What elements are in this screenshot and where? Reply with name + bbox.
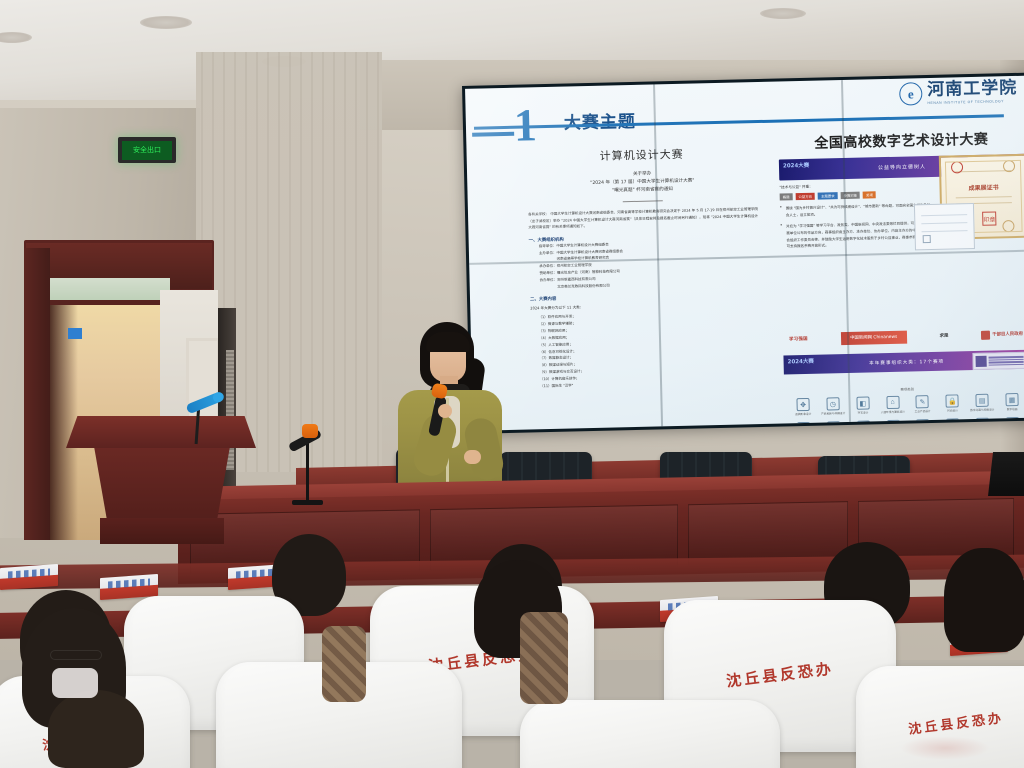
- bullet-text: 围绕 "国为乡村振兴设计"、"共为可持续而设计"、"城市更新" 等命题，可面向全…: [786, 202, 933, 219]
- logo-name-en: HENAN INSTITUTE OF TECHNOLOGY: [927, 99, 1017, 105]
- exit-sign-label: 安全出口: [133, 145, 161, 155]
- brand-design-icon: ✥: [796, 398, 809, 411]
- tag: 主题要求: [818, 192, 838, 199]
- tag: 公益方向: [795, 193, 815, 200]
- lectern-base: [100, 518, 224, 544]
- bullet-item: 对应为 "学习强国" 等学习平台、政务类、中国新闻网、中央政法委等栏目提供，可对…: [780, 220, 933, 250]
- sponsor-logo-label: 千部目人民政府: [992, 331, 1023, 338]
- ceiling-light: [0, 32, 32, 43]
- icon-label: 数字动画与视频设计: [970, 409, 995, 413]
- architecture-design-icon: ⌂: [886, 396, 899, 409]
- industrial-design-icon: ✎: [916, 395, 929, 408]
- icon-label: 产品包装与书籍设计: [821, 412, 846, 416]
- slide-right-column: 全国高校数字艺术设计大赛 2024大赛 公益导向立德树人 "技术与公益" 并重：…: [778, 128, 1024, 256]
- icon-cell[interactable]: ✥ 品牌形象设计: [790, 398, 815, 417]
- tag: 赛题: [780, 193, 793, 200]
- video-wall-display: e 河南工学院 HENAN INSTITUTE OF TECHNOLOGY 1 …: [465, 76, 1024, 431]
- packaging-design-icon: ◷: [826, 397, 839, 410]
- stamp-icon: [1003, 160, 1015, 172]
- icon-cell[interactable]: ▤ 数字动画与视频设计: [969, 394, 994, 413]
- category-list: （1）软件应用与开发； （2）微课与教学辅助； （3）物联网应用； （4）大数据…: [538, 310, 762, 390]
- microphone-stand-base: [292, 500, 323, 505]
- icon-cell[interactable]: ⌂ 人居环境与建筑设计: [880, 396, 905, 415]
- animation-design-icon: ▤: [975, 394, 988, 407]
- environment-design-icon: ◧: [856, 396, 869, 409]
- door-leaf[interactable]: [24, 248, 50, 540]
- stamp-icon: [951, 161, 963, 173]
- conference-hall-photo: 安全出口 e 河南工学院 HENAN INSTITUTE OF TECHNOLO…: [0, 0, 1024, 768]
- university-logo: e 河南工学院 HENAN INSTITUTE OF TECHNOLOGY: [899, 80, 1018, 106]
- title-dash: [472, 132, 514, 137]
- emergency-exit-sign: 安全出口: [118, 137, 176, 163]
- audience-head: [48, 690, 144, 768]
- certificate-title: 成果展证书: [941, 182, 1024, 193]
- icon-cell[interactable]: ✎ 工业产品设计: [910, 395, 935, 414]
- stamp-icon: [1002, 220, 1014, 232]
- digital-painting-icon: ▦: [1005, 393, 1018, 406]
- bullet-text: 对应为 "学习强国" 等学习平台、政务类、中国新闻网、中央政法委等栏目提供，可对…: [786, 220, 933, 250]
- logo-name-cn: 河南工学院: [927, 80, 1017, 99]
- notice-body: 各有关学校： 中国大学生计算机设计大赛河南省组委会、河南省高等学校计算机教育研究…: [528, 206, 758, 231]
- certificate-small: [914, 203, 975, 250]
- icon-label: 品牌形象设计: [791, 413, 816, 417]
- banner-year: 2024大赛: [783, 163, 809, 170]
- banner-year: 2024大赛: [788, 359, 814, 366]
- audience-arm: [520, 612, 568, 704]
- logo-mark-icon: e: [899, 82, 923, 106]
- lectern-top: [66, 416, 256, 448]
- name-placard: [0, 564, 58, 590]
- slide-left-column: 计算机设计大赛 关于举办 "2024 年（第 17 届）中国大学生计算机设计大赛…: [527, 144, 763, 390]
- microphone-stand[interactable]: [306, 440, 309, 504]
- presenter-hand-right: [464, 450, 481, 464]
- competition-banner-bottom: 2024大赛 本年赛事组织大类：17个赛项: [783, 350, 1024, 375]
- cert-square-icon: [923, 235, 931, 243]
- sponsor-logos: 学习强国 中国新闻网 Chinanews 求是 千部目人民政府: [783, 324, 1024, 350]
- fashion-design-icon: 🔒: [946, 394, 959, 407]
- sponsor-logo: 千部目人民政府: [981, 327, 1023, 341]
- badge-lines-icon: [989, 356, 1024, 366]
- left-heading: 计算机设计大赛: [527, 144, 757, 165]
- tag: 奖项: [863, 191, 876, 198]
- slide-title: 大赛主题: [564, 107, 637, 134]
- icon-label: 数字绘画: [1000, 408, 1024, 412]
- lectern-body: [86, 444, 238, 522]
- video-wall[interactable]: e 河南工学院 HENAN INSTITUTE OF TECHNOLOGY 1 …: [462, 73, 1024, 434]
- sponsor-logo: 求是: [939, 329, 948, 342]
- right-title: 全国高校数字艺术设计大赛: [778, 128, 1024, 154]
- computer-monitor[interactable]: [988, 452, 1024, 496]
- icon-cell[interactable]: ▦ 数字绘画: [999, 393, 1024, 412]
- emblem-icon: [981, 330, 990, 339]
- ceiling-light: [140, 16, 192, 29]
- icon-cell[interactable]: ◷ 产品包装与书籍设计: [820, 397, 845, 416]
- certificate-seal-icon: 印章: [982, 211, 996, 225]
- icon-label: 人居环境与建筑设计: [880, 411, 905, 415]
- icon-cell[interactable]: ◧ 环艺设计: [850, 396, 875, 415]
- presenter-fringe: [426, 332, 470, 352]
- ceiling-light: [760, 8, 806, 19]
- sponsor-logo: 学习强国: [789, 332, 808, 345]
- audience-head: [944, 548, 1024, 652]
- bullet-item: 围绕 "国为乡村振兴设计"、"共为可持续而设计"、"城市更新" 等命题，可面向全…: [780, 202, 932, 219]
- badge-square-icon: [976, 356, 987, 367]
- notice-section-2: 二、大赛内容: [530, 292, 760, 303]
- bullet-list: 围绕 "国为乡村振兴设计"、"共为可持续而设计"、"城市更新" 等命题，可面向全…: [780, 202, 933, 250]
- sponsor-logo: 中国新闻网 Chinanews: [841, 330, 907, 345]
- icon-grid-row: ✥ 品牌形象设计 ◷ 产品包装与书籍设计 ◧ 环艺设计: [790, 393, 1024, 417]
- banner-badge: [972, 352, 1024, 370]
- watermark: [900, 736, 990, 760]
- door-transom-glass: [38, 278, 170, 300]
- icon-label: 工业产品设计: [910, 410, 935, 414]
- audience-arm: [322, 626, 366, 702]
- presenter-hand-left: [438, 404, 452, 418]
- icon-label: 时尚设计: [940, 409, 965, 413]
- doorway-shadow: [46, 305, 78, 540]
- certificate-images: 成果展证书 印章: [917, 154, 1024, 241]
- face-mask: [52, 668, 98, 698]
- eyeglasses-icon: [50, 650, 102, 660]
- audience-seat[interactable]: [520, 700, 780, 768]
- banner-slogan: 本年赛事组织大类：17个赛项: [869, 358, 944, 366]
- microphone-windscreen-icon: [302, 424, 318, 438]
- wall-sticker: [68, 328, 82, 339]
- icon-cell[interactable]: 🔒 时尚设计: [940, 394, 965, 413]
- title-rule: [474, 114, 1004, 129]
- org-list: 指导单位：中国大学生计算机设计大赛组委会 主办单位：中国大学生计算机设计大赛河南…: [539, 238, 760, 291]
- icon-label: 环艺设计: [850, 411, 875, 415]
